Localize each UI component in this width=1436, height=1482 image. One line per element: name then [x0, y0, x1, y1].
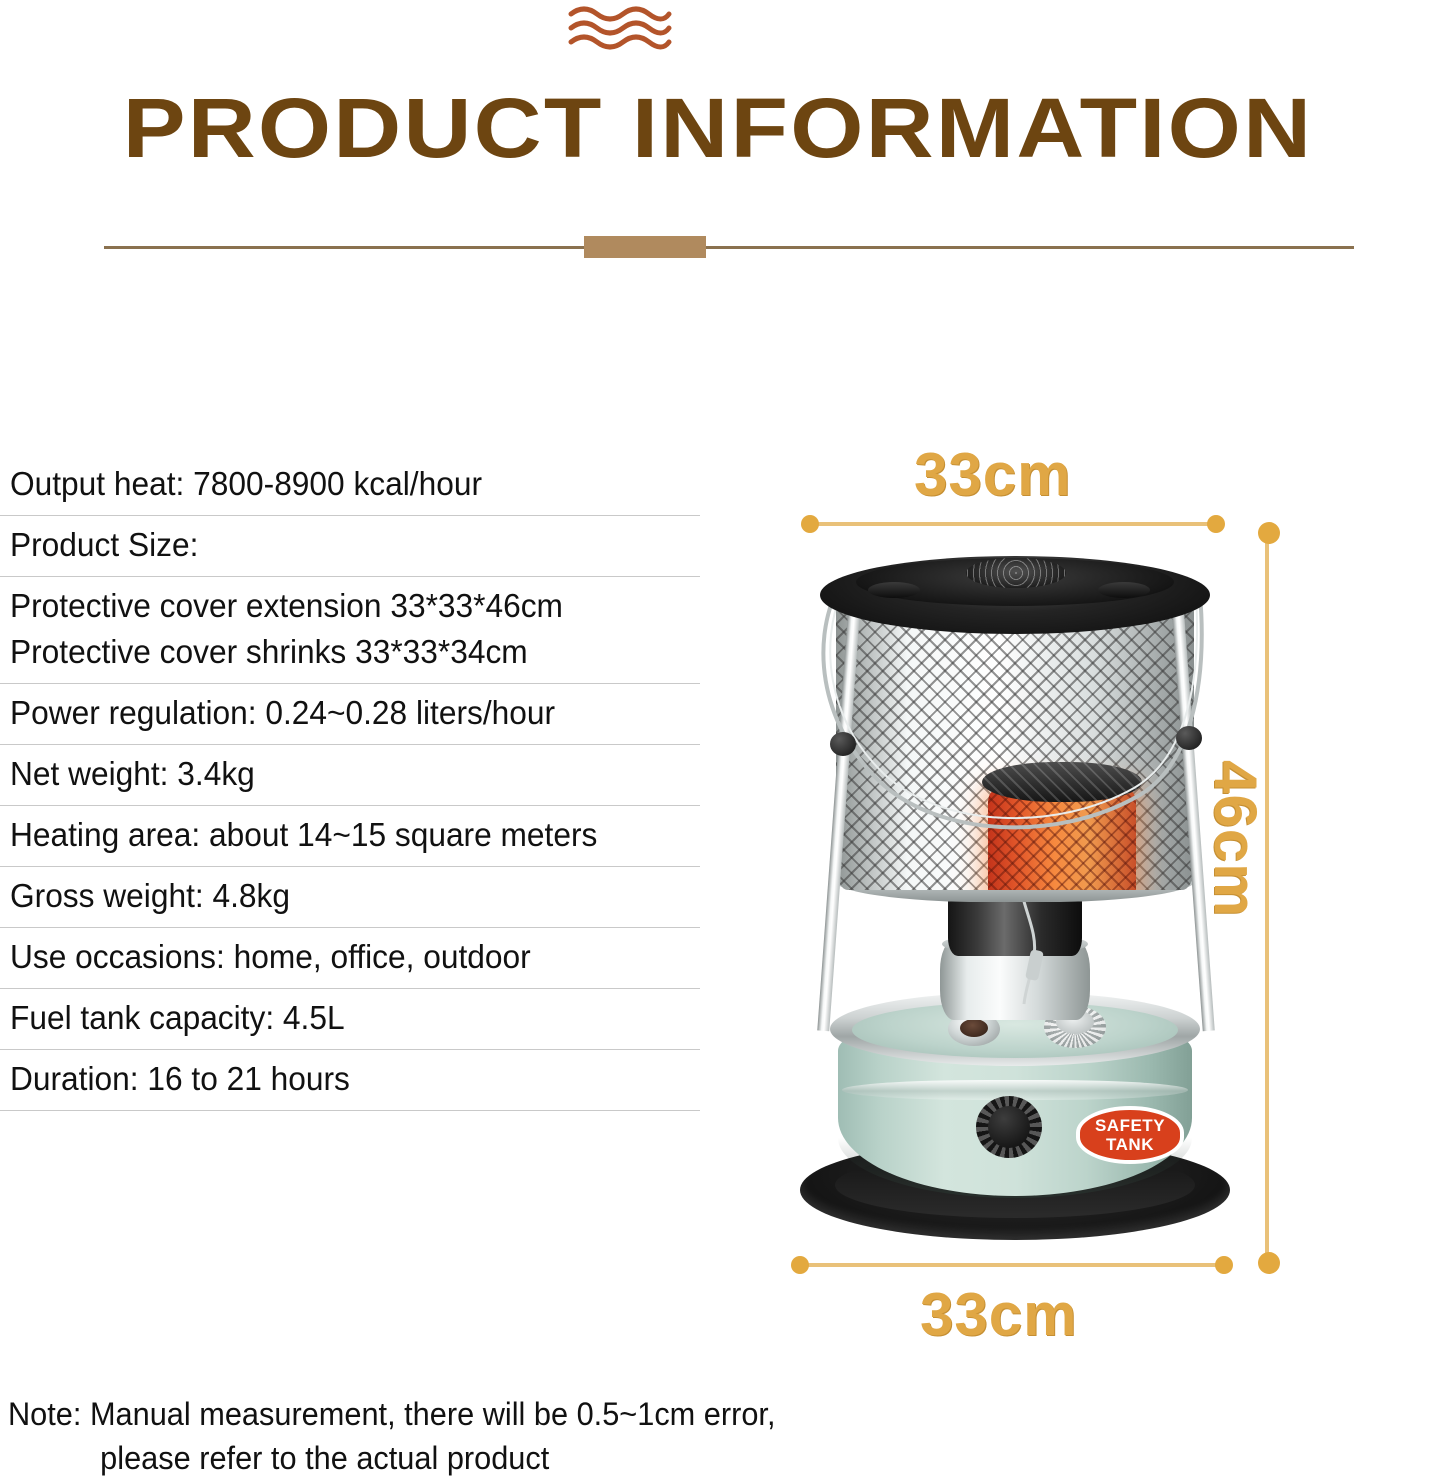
- dimension-dot: [1207, 515, 1225, 533]
- spec-row: Power regulation: 0.24~0.28 liters/hour: [0, 684, 700, 745]
- frame-knob-right[interactable]: [1176, 726, 1202, 750]
- dimension-dot: [801, 515, 819, 533]
- spec-text: Heating area: about 14~15 square meters: [10, 813, 672, 857]
- dimension-label-width-bottom: 33cm: [920, 1280, 1077, 1349]
- spec-list: Output heat: 7800-8900 kcal/hour Product…: [0, 455, 700, 1111]
- spec-row: Duration: 16 to 21 hours: [0, 1050, 700, 1111]
- dimension-line-right: [1265, 531, 1269, 1263]
- header: PRODUCT INFORMATION: [0, 0, 1436, 285]
- heat-waves-icon: [565, 4, 675, 52]
- spec-row: Product Size:: [0, 516, 700, 577]
- spec-row: Heating area: about 14~15 square meters: [0, 806, 700, 867]
- title-divider: [104, 245, 1354, 249]
- safety-badge-line-1: SAFETY: [1095, 1116, 1165, 1135]
- top-vent-slot-right: [1098, 582, 1150, 598]
- safety-badge-line-2: TANK: [1106, 1135, 1154, 1154]
- spec-row: Net weight: 3.4kg: [0, 745, 700, 806]
- product-image-kerosene-heater: SAFETY TANK: [790, 540, 1240, 1250]
- top-vent-slot-left: [868, 582, 920, 598]
- spec-text: Net weight: 3.4kg: [10, 752, 672, 796]
- note-line-1: Note: Manual measurement, there will be …: [8, 1392, 1064, 1436]
- note-block: Note: Manual measurement, there will be …: [8, 1392, 1108, 1480]
- control-knob-face: [988, 1106, 1030, 1148]
- frame-knob-left[interactable]: [830, 732, 856, 756]
- spec-row: Use occasions: home, office, outdoor: [0, 928, 700, 989]
- spec-text: Protective cover shrinks 33*33*34cm: [10, 630, 672, 674]
- divider-center-tab: [584, 236, 706, 258]
- spec-row: Fuel tank capacity: 4.5L: [0, 989, 700, 1050]
- spec-text: Protective cover extension 33*33*46cm: [10, 584, 672, 628]
- spec-row: Gross weight: 4.8kg: [0, 867, 700, 928]
- page-title: PRODUCT INFORMATION: [0, 86, 1436, 170]
- dimension-dot: [1258, 1252, 1280, 1274]
- spec-text: Fuel tank capacity: 4.5L: [10, 996, 672, 1040]
- dimension-dot: [1258, 522, 1280, 544]
- top-vent-grille: [966, 558, 1066, 588]
- dimension-line-bottom: [800, 1263, 1224, 1267]
- fuel-gauge-window: [960, 1019, 988, 1037]
- spec-text: Power regulation: 0.24~0.28 liters/hour: [10, 691, 672, 735]
- spec-text: Use occasions: home, office, outdoor: [10, 935, 672, 979]
- safety-tank-badge: SAFETY TANK: [1076, 1106, 1184, 1164]
- spec-text: Duration: 16 to 21 hours: [10, 1057, 672, 1101]
- divider-rule: [104, 246, 1354, 249]
- spec-text: Product Size:: [10, 523, 672, 567]
- dimension-label-width-top: 33cm: [914, 440, 1071, 509]
- spec-row: Protective cover extension 33*33*46cm Pr…: [0, 577, 700, 684]
- note-line-2: please refer to the actual product: [8, 1436, 1064, 1480]
- spec-text: Output heat: 7800-8900 kcal/hour: [10, 462, 672, 506]
- spec-row: Output heat: 7800-8900 kcal/hour: [0, 455, 700, 516]
- dimension-dot: [1215, 1256, 1233, 1274]
- dimension-dot: [791, 1256, 809, 1274]
- spec-text: Gross weight: 4.8kg: [10, 874, 672, 918]
- dimension-line-top: [810, 522, 1216, 526]
